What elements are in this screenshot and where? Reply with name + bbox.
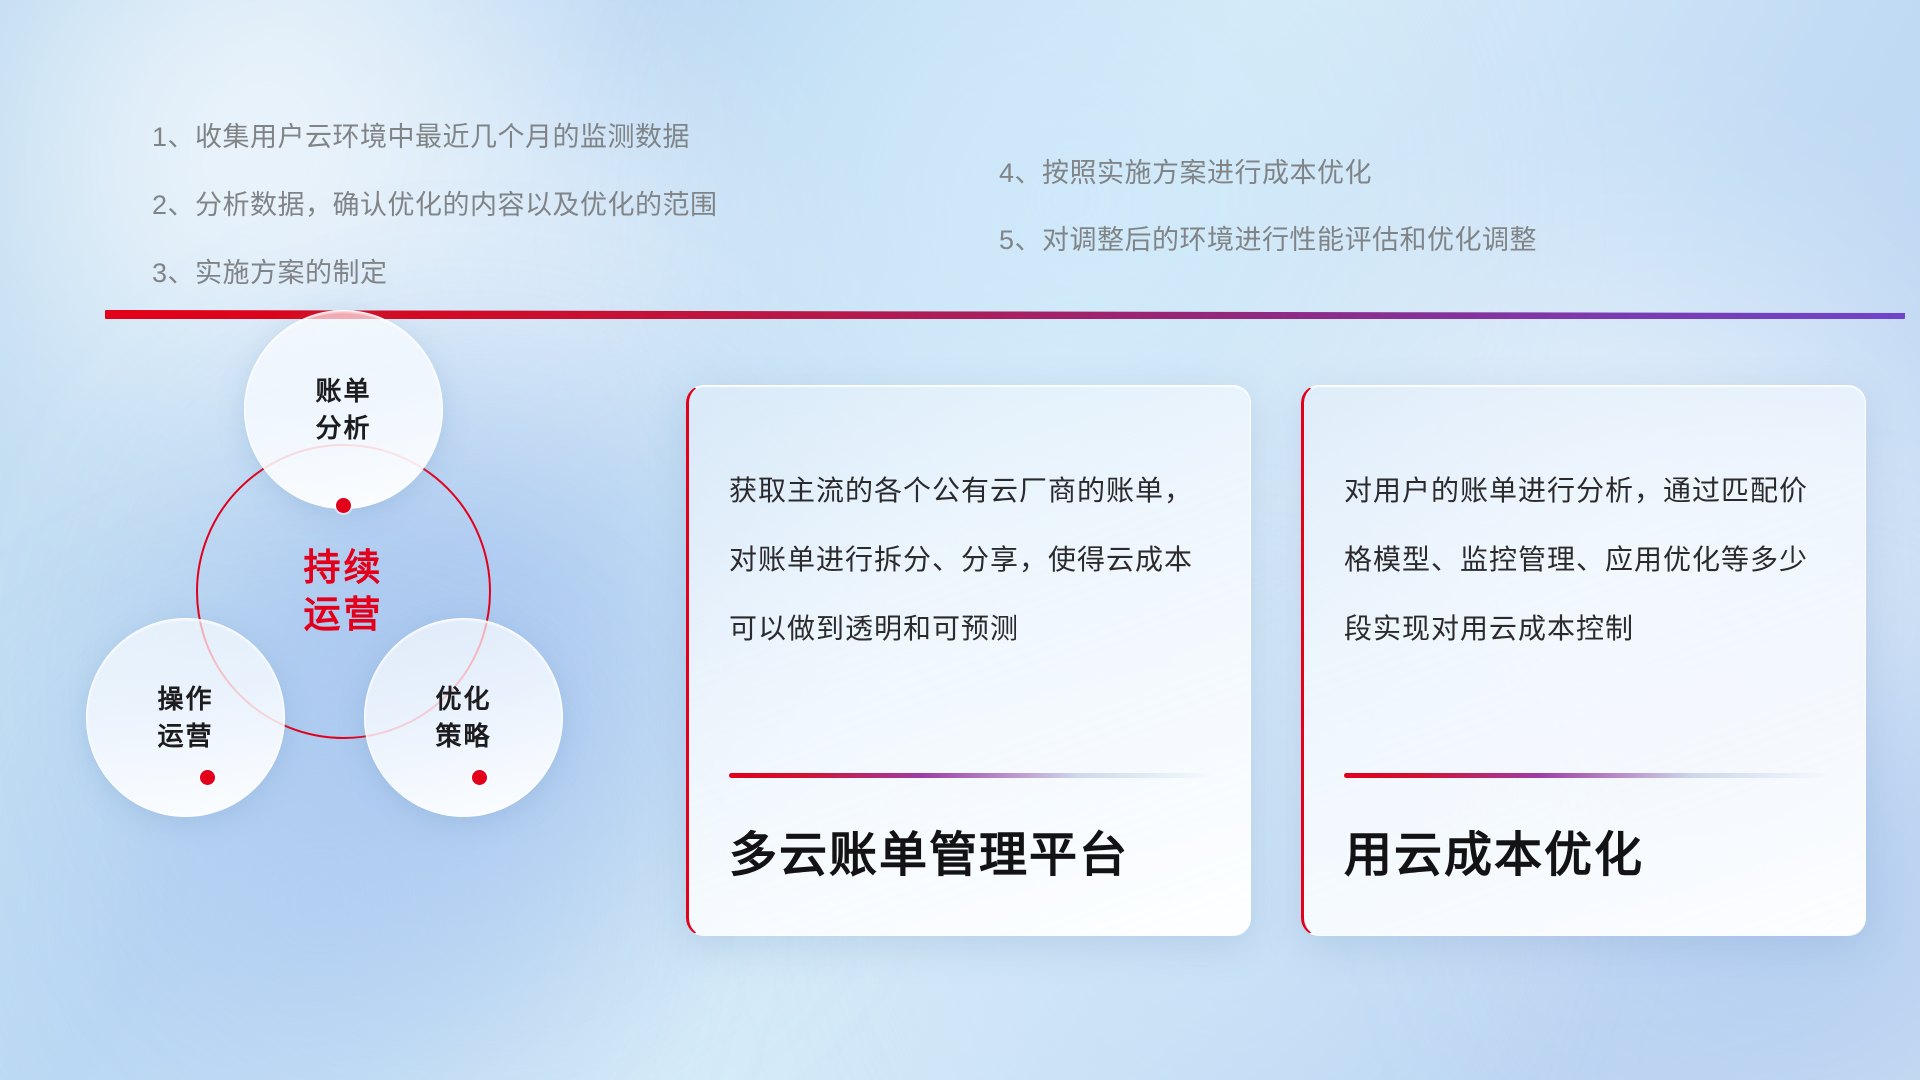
- step-item-4: 4、按照实施方案进行成本优化: [999, 160, 1537, 187]
- feature-card-1-title: 多云账单管理平台: [729, 815, 1129, 885]
- steps-list-left: 1、收集用户云环境中最近几个月的监测数据 2、分析数据，确认优化的内容以及优化的…: [152, 124, 718, 328]
- venn-center-line-2: 运营: [304, 596, 384, 635]
- venn-bubble-optimization-strategy[interactable]: 优化 策略: [364, 618, 563, 817]
- step-item-2: 2、分析数据，确认优化的内容以及优化的范围: [152, 192, 718, 219]
- venn-bubble-left-line-1: 操作: [157, 683, 213, 716]
- venn-center-line-1: 持续: [304, 549, 384, 588]
- venn-node-dot-right: [472, 770, 487, 785]
- step-item-5: 5、对调整后的环境进行性能评估和优化调整: [999, 227, 1537, 254]
- step-item-1: 1、收集用户云环境中最近几个月的监测数据: [152, 124, 718, 151]
- feature-card-1-rule: [729, 773, 1214, 778]
- feature-card-billing-platform[interactable]: 获取主流的各个公有云厂商的账单，对账单进行拆分、分享，使得云成本可以做到透明和可…: [686, 385, 1251, 936]
- venn-bubble-left-line-2: 运营: [157, 720, 213, 753]
- feature-card-2-rule: [1344, 773, 1829, 778]
- feature-card-cost-optimization[interactable]: 对用户的账单进行分析，通过匹配价格模型、监控管理、应用优化等多少段实现对用云成本…: [1301, 385, 1866, 936]
- feature-card-1-body: 获取主流的各个公有云厂商的账单，对账单进行拆分、分享，使得云成本可以做到透明和可…: [729, 456, 1210, 663]
- venn-bubble-right-line-1: 优化: [435, 683, 491, 716]
- steps-list-right: 4、按照实施方案进行成本优化 5、对调整后的环境进行性能评估和优化调整: [999, 160, 1537, 294]
- venn-node-dot-top: [336, 498, 351, 513]
- venn-bubble-billing-analysis[interactable]: 账单 分析: [244, 310, 443, 509]
- venn-bubble-right-line-2: 策略: [435, 720, 491, 753]
- venn-bubble-operations[interactable]: 操作 运营: [86, 618, 285, 817]
- feature-card-2-body: 对用户的账单进行分析，通过匹配价格模型、监控管理、应用优化等多少段实现对用云成本…: [1344, 456, 1825, 663]
- venn-bubble-top-line-2: 分析: [315, 412, 371, 445]
- step-item-3: 3、实施方案的制定: [152, 260, 718, 287]
- venn-node-dot-left: [200, 770, 215, 785]
- venn-bubble-top-line-1: 账单: [315, 375, 371, 408]
- venn-diagram: 持续 运营 账单 分析 操作 运营 优化 策略: [96, 352, 596, 962]
- feature-card-2-title: 用云成本优化: [1344, 815, 1644, 885]
